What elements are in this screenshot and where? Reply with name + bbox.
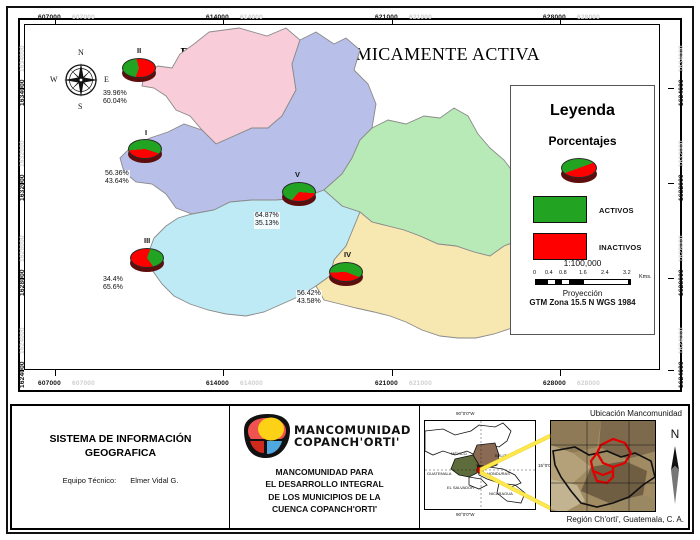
region-activos-V: 64.87% bbox=[255, 212, 279, 219]
legend-title: Leyenda bbox=[511, 102, 654, 120]
region-percentages-V: 64.87% 35.13% bbox=[254, 212, 280, 229]
legend-label-activos: ACTIVOS bbox=[599, 206, 634, 215]
team-credit: Equipo Técnico:Elmer Vidal G. bbox=[12, 476, 229, 485]
logo-sub-line1: MANCOMUNIDAD PARA bbox=[275, 467, 373, 477]
logo-word-line2: COPANCH'ORTI' bbox=[294, 435, 400, 449]
pie-top-V bbox=[282, 182, 316, 202]
country-label-honduras: HONDURAS bbox=[487, 471, 510, 476]
x-tick-shadow-2: 614000 bbox=[240, 14, 263, 21]
footer-sig-cell: SISTEMA DE INFORMACIÓN GEOGRAFICA Equipo… bbox=[12, 406, 230, 528]
x-tick-shadow-3: 621000 bbox=[409, 14, 432, 21]
country-label-belize: BELIZE bbox=[495, 453, 509, 458]
y-tick-mark-r4 bbox=[668, 370, 674, 371]
y-tick-mark-r1 bbox=[668, 88, 674, 89]
legend-swatch-inactivos bbox=[533, 233, 587, 260]
y-tick-label-right-1628000: 1628000 bbox=[678, 269, 685, 296]
pie-chart-III bbox=[130, 248, 164, 274]
projection-value: GTM Zona 15.5 N WGS 1984 bbox=[511, 298, 654, 307]
y-tick-shadow-r4: 1624000 bbox=[678, 327, 685, 354]
location-inset-title: Ubicación Mancomunidad bbox=[590, 409, 682, 418]
legend-pie-top bbox=[561, 158, 597, 178]
region-activos-II: 39.96% bbox=[103, 90, 127, 97]
scale-bar bbox=[535, 279, 631, 285]
map-panel: 607000 607000 614000 614000 621000 62100… bbox=[10, 10, 690, 400]
region-percentages-III: 34.4% 65.6% bbox=[102, 276, 124, 293]
country-label-elsalvador: EL SALVADOR bbox=[447, 485, 474, 490]
scale-tick-32: 3.2 bbox=[623, 270, 631, 276]
footer-panel: SISTEMA DE INFORMACIÓN GEOGRAFICA Equipo… bbox=[10, 404, 690, 530]
x-tick-label-bottom-614000: 614000 bbox=[206, 380, 229, 387]
pie-top-II bbox=[122, 58, 156, 78]
x-tick-mark-b2 bbox=[223, 370, 224, 376]
svg-text:N: N bbox=[671, 427, 680, 441]
sig-title: SISTEMA DE INFORMACIÓN GEOGRAFICA bbox=[12, 432, 229, 460]
x-tick-label-bottom-628000: 628000 bbox=[543, 380, 566, 387]
scale-tick-16: 1.6 bbox=[579, 270, 587, 276]
region-activos-III: 34.4% bbox=[103, 276, 123, 283]
sig-title-line1: SISTEMA DE INFORMACIÓN bbox=[50, 433, 192, 445]
region-label-III: III bbox=[144, 236, 150, 245]
region-activos-IV: 56.42% bbox=[297, 290, 321, 297]
pie-chart-V bbox=[282, 182, 316, 208]
x-tick-mark-b3 bbox=[392, 370, 393, 376]
footer-logo-cell: MANCOMUNIDAD COPANCH'ORTI' MANCOMUNIDAD … bbox=[230, 406, 420, 528]
scale-tick-labels: 0 0.4 0.8 1.6 2.4 3.2 Kms. bbox=[511, 270, 654, 279]
pie-chart-I bbox=[128, 139, 162, 165]
region-label-II: II bbox=[137, 46, 141, 55]
mancomunidad-logo-icon bbox=[240, 414, 292, 459]
pie-chart-IV bbox=[329, 262, 363, 288]
region-activos-I: 56.36% bbox=[105, 170, 129, 177]
scale-bar-gap-3 bbox=[584, 280, 628, 284]
legend-subtitle: Porcentajes bbox=[511, 134, 654, 148]
region-inactivos-V: 35.13% bbox=[255, 220, 279, 227]
region-inactivos-I: 43.64% bbox=[105, 178, 129, 185]
central-america-inset-map: MÉXICO BELIZE GUATEMALA HONDURAS EL SALV… bbox=[424, 420, 536, 510]
footer-location-cell: Ubicación Mancomunidad MÉXICO BELIZE bbox=[420, 406, 688, 528]
mancomunidad-relief-inset bbox=[550, 420, 656, 512]
logo-subtitle: MANCOMUNIDAD PARA EL DESARROLLO INTEGRAL… bbox=[230, 466, 419, 515]
scale-tick-0: 0 bbox=[533, 270, 536, 276]
x-tick-label-bottom-607000: 607000 bbox=[38, 380, 61, 387]
team-label: Equipo Técnico: bbox=[63, 476, 117, 485]
scale-tick-04: 0.4 bbox=[545, 270, 553, 276]
scale-unit-label: Kms. bbox=[639, 274, 652, 280]
x-tick-shadow-b4: 628000 bbox=[577, 380, 600, 387]
x-tick-label-621000: 621000 bbox=[375, 14, 398, 21]
legend-pie-symbol bbox=[561, 158, 597, 184]
y-tick-label-right-1624000: 1624000 bbox=[678, 361, 685, 388]
projection-label: Proyección bbox=[511, 289, 654, 298]
team-name: Elmer Vidal G. bbox=[130, 476, 178, 485]
location-inset-footer: Región Ch'orti', Guatemala, C. A. bbox=[567, 515, 684, 524]
logo-wordmark: MANCOMUNIDAD COPANCH'ORTI' bbox=[294, 424, 411, 448]
logo-sub-line4: CUENCA COPANCH'ORTI' bbox=[272, 504, 377, 514]
scale-bar-group: 1:100,000 0 0.4 0.8 1.6 2.4 3.2 Kms. Pro… bbox=[511, 258, 654, 307]
x-tick-mark-b1 bbox=[55, 370, 56, 376]
country-label-guatemala: GUATEMALA bbox=[427, 471, 451, 476]
x-tick-shadow-1: 607000 bbox=[72, 14, 95, 21]
pie-top-IV bbox=[329, 262, 363, 282]
pie-top-III bbox=[130, 248, 164, 268]
y-tick-shadow-r3: 1628000 bbox=[678, 235, 685, 262]
x-tick-label-628000: 628000 bbox=[543, 14, 566, 21]
y-tick-mark-r3 bbox=[668, 278, 674, 279]
x-tick-label-614000: 614000 bbox=[206, 14, 229, 21]
scale-bar-gap-1 bbox=[548, 280, 555, 284]
y-tick-shadow-r2: 1632000 bbox=[678, 140, 685, 167]
scale-ratio-label: 1:100,000 bbox=[511, 258, 654, 268]
region-label-I: I bbox=[145, 128, 147, 137]
scale-tick-08: 0.8 bbox=[559, 270, 567, 276]
legend-swatch-activos bbox=[533, 196, 587, 223]
region-percentages-II: 39.96% 60.04% bbox=[102, 90, 128, 107]
country-label-nicaragua: NICARAGUA bbox=[489, 491, 513, 496]
x-tick-label-bottom-621000: 621000 bbox=[375, 380, 398, 387]
region-label-V: V bbox=[295, 170, 300, 179]
x-tick-shadow-b1: 607000 bbox=[72, 380, 95, 387]
y-tick-label-right-1634000: 1634000 bbox=[678, 79, 685, 106]
y-tick-mark-4 bbox=[18, 370, 24, 371]
x-tick-label-607000: 607000 bbox=[38, 14, 61, 21]
x-tick-shadow-b2: 614000 bbox=[240, 380, 263, 387]
region-percentages-I: 56.36% 43.64% bbox=[104, 170, 130, 187]
scale-bar-gap-2 bbox=[562, 280, 569, 284]
logo-sub-line3: DE LOS MUNICIPIOS DE LA bbox=[268, 492, 380, 502]
legend-label-inactivos: INACTIVOS bbox=[599, 243, 642, 252]
legend-panel: Leyenda Porcentajes ACTIVOS INACTIVOS 1:… bbox=[510, 85, 655, 335]
pie-chart-II bbox=[122, 58, 156, 84]
x-tick-shadow-4: 628000 bbox=[577, 14, 600, 21]
sig-title-line2: GEOGRAFICA bbox=[85, 447, 156, 459]
country-label-mexico: MÉXICO bbox=[451, 451, 467, 456]
scale-tick-24: 2.4 bbox=[601, 270, 609, 276]
x-tick-mark-b4 bbox=[560, 370, 561, 376]
region-inactivos-III: 65.6% bbox=[103, 284, 123, 291]
region-percentages-IV: 56.42% 43.58% bbox=[296, 290, 322, 307]
geo-label-bottom: 90°0'0"W bbox=[456, 512, 475, 517]
geo-label-top: 90°0'0"W bbox=[456, 411, 475, 416]
map-page: 607000 607000 614000 614000 621000 62100… bbox=[0, 0, 700, 540]
north-arrow-icon: N bbox=[663, 424, 687, 508]
region-label-IV: IV bbox=[344, 250, 351, 259]
y-tick-shadow-r1: 1634000 bbox=[678, 45, 685, 72]
pie-top-I bbox=[128, 139, 162, 159]
region-inactivos-IV: 43.58% bbox=[297, 298, 321, 305]
x-tick-shadow-b3: 621000 bbox=[409, 380, 432, 387]
y-tick-label-right-1632000: 1632000 bbox=[678, 174, 685, 201]
logo-sub-line2: EL DESARROLLO INTEGRAL bbox=[265, 479, 383, 489]
region-inactivos-II: 60.04% bbox=[103, 98, 127, 105]
y-tick-mark-r2 bbox=[668, 183, 674, 184]
